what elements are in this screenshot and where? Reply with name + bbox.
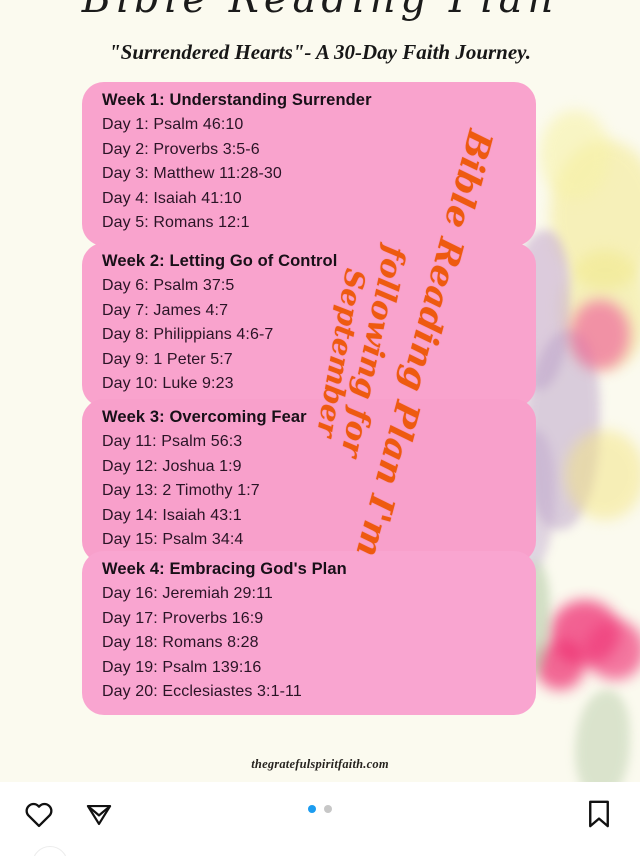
carousel-dot-1[interactable] [308, 805, 316, 813]
week-card-day: Day 7: James 4:7 [102, 299, 536, 324]
week-card-day: Day 18: Romans 8:28 [102, 631, 536, 656]
week-card-day: Day 8: Philippians 4:6-7 [102, 323, 536, 348]
watermark-url: thegratefulspiritfaith.com [0, 757, 640, 772]
week-card-day: Day 16: Jeremiah 29:11 [102, 582, 536, 607]
week-card-day: Day 15: Psalm 34:4 [102, 528, 536, 553]
week-card-day: Day 9: 1 Peter 5:7 [102, 348, 536, 373]
post-action-bar [0, 782, 640, 844]
week-card-title: Week 3: Overcoming Fear [102, 408, 536, 427]
week-card-day: Day 20: Ecclesiastes 3:1-11 [102, 680, 536, 705]
share-paper-plane-icon[interactable] [80, 795, 118, 833]
bookmark-icon[interactable] [580, 795, 618, 833]
page-title: Bible Reading Plan [0, 0, 640, 22]
week-card-day: Day 11: Psalm 56:3 [102, 430, 536, 455]
heart-icon[interactable] [20, 795, 58, 833]
week-card-day: Day 3: Matthew 11:28-30 [102, 162, 536, 187]
week-card-day: Day 19: Psalm 139:16 [102, 656, 536, 681]
week-card-day: Day 12: Joshua 1:9 [102, 455, 536, 480]
week-card-day: Day 10: Luke 9:23 [102, 372, 536, 397]
carousel-dot-2[interactable] [324, 805, 332, 813]
week-card: Week 3: Overcoming Fear Day 11: Psalm 56… [82, 399, 536, 563]
week-card-day: Day 2: Proverbs 3:5-6 [102, 138, 536, 163]
week-card: Week 1: Understanding Surrender Day 1: P… [82, 82, 536, 246]
avatar[interactable] [32, 846, 68, 856]
instagram-post-screen: Bible Reading Plan "Surrendered Hearts"-… [0, 0, 640, 856]
week-card-day: Day 13: 2 Timothy 1:7 [102, 479, 536, 504]
week-card: Week 4: Embracing God's Plan Day 16: Jer… [82, 551, 536, 715]
week-card-day: Day 5: Romans 12:1 [102, 211, 536, 236]
week-card-day: Day 14: Isaiah 43:1 [102, 504, 536, 529]
page-subtitle: "Surrendered Hearts"- A 30-Day Faith Jou… [0, 40, 640, 65]
week-card: Week 2: Letting Go of Control Day 6: Psa… [82, 243, 536, 407]
week-card-day: Day 17: Proverbs 16:9 [102, 607, 536, 632]
carousel-dots [0, 805, 640, 813]
post-image[interactable]: Bible Reading Plan "Surrendered Hearts"-… [0, 0, 640, 782]
week-card-title: Week 2: Letting Go of Control [102, 252, 536, 271]
week-card-day: Day 1: Psalm 46:10 [102, 113, 536, 138]
week-card-day: Day 6: Psalm 37:5 [102, 274, 536, 299]
week-card-day: Day 4: Isaiah 41:10 [102, 187, 536, 212]
week-card-title: Week 4: Embracing God's Plan [102, 560, 536, 579]
week-card-title: Week 1: Understanding Surrender [102, 91, 536, 110]
